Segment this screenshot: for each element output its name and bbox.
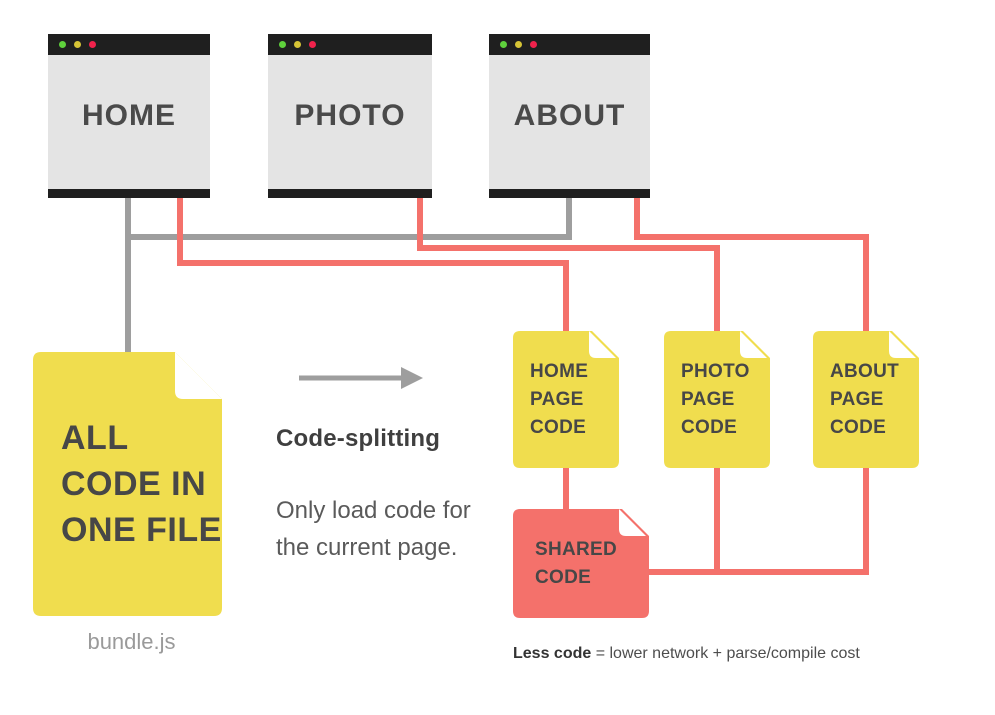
file-card-text: SHARED CODE bbox=[513, 509, 649, 618]
file-card-text: ALL CODE IN ONE FILE bbox=[33, 352, 230, 616]
browser-footer-bar bbox=[48, 189, 210, 198]
browser-window-home[interactable]: HOME bbox=[48, 34, 210, 198]
file-card-line: PAGE bbox=[530, 386, 619, 414]
browser-footer-bar bbox=[268, 189, 432, 198]
file-card-line: CODE bbox=[535, 564, 649, 592]
file-card-text: ABOUT PAGE CODE bbox=[813, 331, 919, 468]
file-card-line: PHOTO bbox=[681, 358, 770, 386]
file-card-line: CODE IN bbox=[61, 461, 230, 507]
wire-about-card-to-shared bbox=[646, 462, 866, 572]
center-heading: Code-splitting bbox=[276, 425, 440, 453]
file-card-line: CODE bbox=[530, 414, 619, 442]
bottom-caption: Less code = lower network + parse/compil… bbox=[513, 645, 860, 663]
bottom-caption-bold: Less code bbox=[513, 645, 591, 662]
wire-about-to-bundle-rail bbox=[128, 197, 569, 237]
file-card-line: CODE bbox=[681, 414, 770, 442]
file-card-bundle[interactable]: ALL CODE IN ONE FILE bbox=[33, 352, 230, 616]
bottom-caption-rest: = lower network + parse/compile cost bbox=[591, 645, 860, 662]
wire-photo-to-photo-card bbox=[420, 197, 717, 340]
center-body-text: Only load code for the current page. bbox=[276, 492, 476, 566]
browser-footer-bar bbox=[489, 189, 650, 198]
browser-window-photo[interactable]: PHOTO bbox=[268, 34, 432, 198]
file-card-line: SHARED bbox=[535, 536, 649, 564]
wire-home-to-home-card bbox=[180, 197, 566, 340]
file-card-line: ABOUT bbox=[830, 358, 919, 386]
diagram-canvas: HOME PHOTO ABOUT ALL CODE IN ONE FILE bbox=[0, 0, 995, 715]
browser-window-title: PHOTO bbox=[268, 34, 432, 198]
arrow-right-icon bbox=[297, 363, 427, 393]
bundle-filename-label: bundle.js bbox=[33, 629, 230, 655]
gray-wire-group bbox=[128, 197, 569, 352]
wire-about-to-about-card bbox=[637, 197, 866, 340]
file-card-line: PAGE bbox=[681, 386, 770, 414]
file-card-line: ONE FILE bbox=[61, 507, 230, 553]
wire-photo-card-to-shared bbox=[646, 462, 717, 572]
browser-window-title: HOME bbox=[48, 34, 210, 198]
file-card-shared-code[interactable]: SHARED CODE bbox=[513, 509, 649, 618]
file-card-text: PHOTO PAGE CODE bbox=[664, 331, 770, 468]
file-card-home-page-code[interactable]: HOME PAGE CODE bbox=[513, 331, 619, 468]
file-card-photo-page-code[interactable]: PHOTO PAGE CODE bbox=[664, 331, 770, 468]
browser-window-about[interactable]: ABOUT bbox=[489, 34, 650, 198]
file-card-about-page-code[interactable]: ABOUT PAGE CODE bbox=[813, 331, 919, 468]
browser-window-title: ABOUT bbox=[489, 34, 650, 198]
file-card-line: HOME bbox=[530, 358, 619, 386]
file-card-line: PAGE bbox=[830, 386, 919, 414]
file-card-text: HOME PAGE CODE bbox=[513, 331, 619, 468]
file-card-line: CODE bbox=[830, 414, 919, 442]
file-card-line: ALL bbox=[61, 415, 230, 461]
